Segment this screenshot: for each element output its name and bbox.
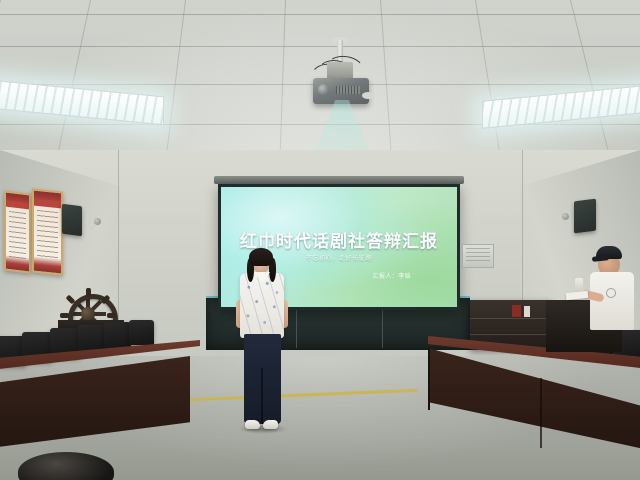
- screen-roller-housing: [214, 176, 464, 184]
- cabinet-item-red: [512, 305, 521, 317]
- wall-speaker-right: [574, 199, 596, 234]
- red-scroll-banner-1: [4, 190, 31, 273]
- paper-cup: [575, 278, 583, 290]
- presenter-hair: [249, 248, 273, 266]
- air-vent-grille: [462, 244, 494, 268]
- cabinet-item-white: [524, 306, 530, 317]
- table-right-leg: [428, 348, 430, 410]
- slide-presenter-credit: 汇报人：李晗: [373, 271, 411, 280]
- presenter-shoe-right: [263, 420, 278, 429]
- wall-mount-knob: [94, 218, 101, 225]
- table-right-seam: [540, 378, 542, 448]
- wall-mount-knob: [562, 213, 569, 220]
- tshirt-logo: [606, 288, 616, 298]
- photo-scene: 红巾时代话剧社答辩汇报 不忘初心，走好长征路 汇报人：李晗: [0, 0, 640, 480]
- presenter-shoe-left: [245, 420, 260, 429]
- projector-vent: [336, 86, 360, 94]
- smoke-detector: [362, 92, 374, 99]
- projector-lens: [318, 84, 329, 95]
- red-scroll-banner-2: [32, 188, 63, 275]
- wall-speaker-left: [62, 204, 82, 236]
- presenter-shirt: [240, 273, 284, 338]
